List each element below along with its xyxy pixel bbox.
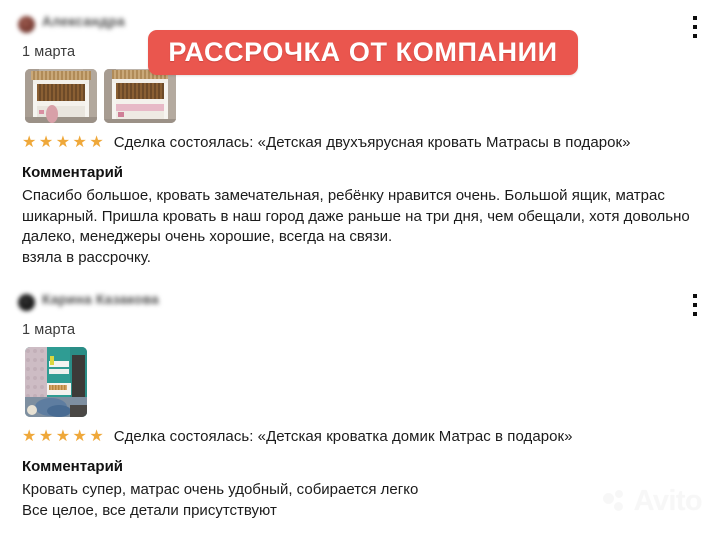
review-author-name: Карина Казакова bbox=[42, 292, 159, 307]
star-icon: ★ bbox=[22, 135, 36, 151]
kebab-dot bbox=[693, 25, 697, 29]
comment-title: Комментарий bbox=[22, 458, 720, 475]
review-header: Карина Казакова bbox=[0, 292, 720, 316]
avatar bbox=[18, 16, 35, 33]
comment-paragraph: Все целое, все детали присутствуют bbox=[22, 501, 690, 522]
avito-watermark: Avito bbox=[603, 485, 702, 518]
comment-paragraph: Кровать супер, матрас очень удобный, соб… bbox=[22, 480, 690, 501]
star-icon: ★ bbox=[39, 429, 53, 445]
avatar bbox=[18, 294, 35, 311]
star-icon: ★ bbox=[73, 135, 87, 151]
star-icon: ★ bbox=[73, 429, 87, 445]
review-date: 1 марта bbox=[22, 322, 720, 338]
review-photo-thumbnail[interactable] bbox=[25, 347, 87, 417]
bunk-bed-photo-1 bbox=[25, 69, 97, 123]
kebab-menu-icon[interactable] bbox=[692, 294, 698, 316]
deal-row: ★ ★ ★ ★ ★ Сделка состоялась: «Детская кр… bbox=[22, 428, 720, 445]
star-icon: ★ bbox=[22, 429, 36, 445]
review-photo-thumbnail[interactable] bbox=[104, 69, 176, 123]
comment-body: Кровать супер, матрас очень удобный, соб… bbox=[22, 480, 690, 521]
review-photo-thumbnail[interactable] bbox=[25, 69, 97, 123]
star-icon: ★ bbox=[89, 135, 103, 151]
avito-watermark-text: Avito bbox=[634, 485, 702, 518]
review-photos bbox=[25, 347, 720, 417]
bunk-bed-photo-2 bbox=[104, 69, 176, 123]
kebab-dot bbox=[693, 16, 697, 20]
star-icon: ★ bbox=[39, 135, 53, 151]
review-author-name: Александра bbox=[42, 14, 125, 29]
kebab-dot bbox=[693, 303, 697, 307]
deal-row: ★ ★ ★ ★ ★ Сделка состоялась: «Детская дв… bbox=[22, 134, 720, 151]
avito-logo-icon bbox=[603, 490, 629, 514]
comment-body: Спасибо большое, кровать замечательная, … bbox=[22, 186, 690, 268]
kebab-dot bbox=[693, 34, 697, 38]
deal-text: Сделка состоялась: «Детская кроватка дом… bbox=[114, 428, 573, 445]
kebab-dot bbox=[693, 294, 697, 298]
comment-paragraph: взяла в рассрочку. bbox=[22, 248, 690, 269]
rating-stars: ★ ★ ★ ★ ★ bbox=[22, 429, 104, 445]
bedroom-photo-1 bbox=[25, 347, 87, 417]
comment-paragraph: Спасибо большое, кровать замечательная, … bbox=[22, 186, 690, 248]
deal-text: Сделка состоялась: «Детская двухъярусная… bbox=[114, 134, 631, 151]
star-icon: ★ bbox=[56, 429, 70, 445]
star-icon: ★ bbox=[89, 429, 103, 445]
comment-title: Комментарий bbox=[22, 164, 720, 181]
promo-banner-text: РАССРОЧКА ОТ КОМПАНИИ bbox=[168, 37, 557, 68]
reviews-screen: Александра 1 марта bbox=[0, 0, 720, 540]
rating-stars: ★ ★ ★ ★ ★ bbox=[22, 135, 104, 151]
kebab-dot bbox=[693, 312, 697, 316]
review-photos bbox=[25, 69, 720, 123]
kebab-menu-icon[interactable] bbox=[692, 16, 698, 38]
star-icon: ★ bbox=[56, 135, 70, 151]
promo-banner: РАССРОЧКА ОТ КОМПАНИИ bbox=[148, 30, 578, 75]
